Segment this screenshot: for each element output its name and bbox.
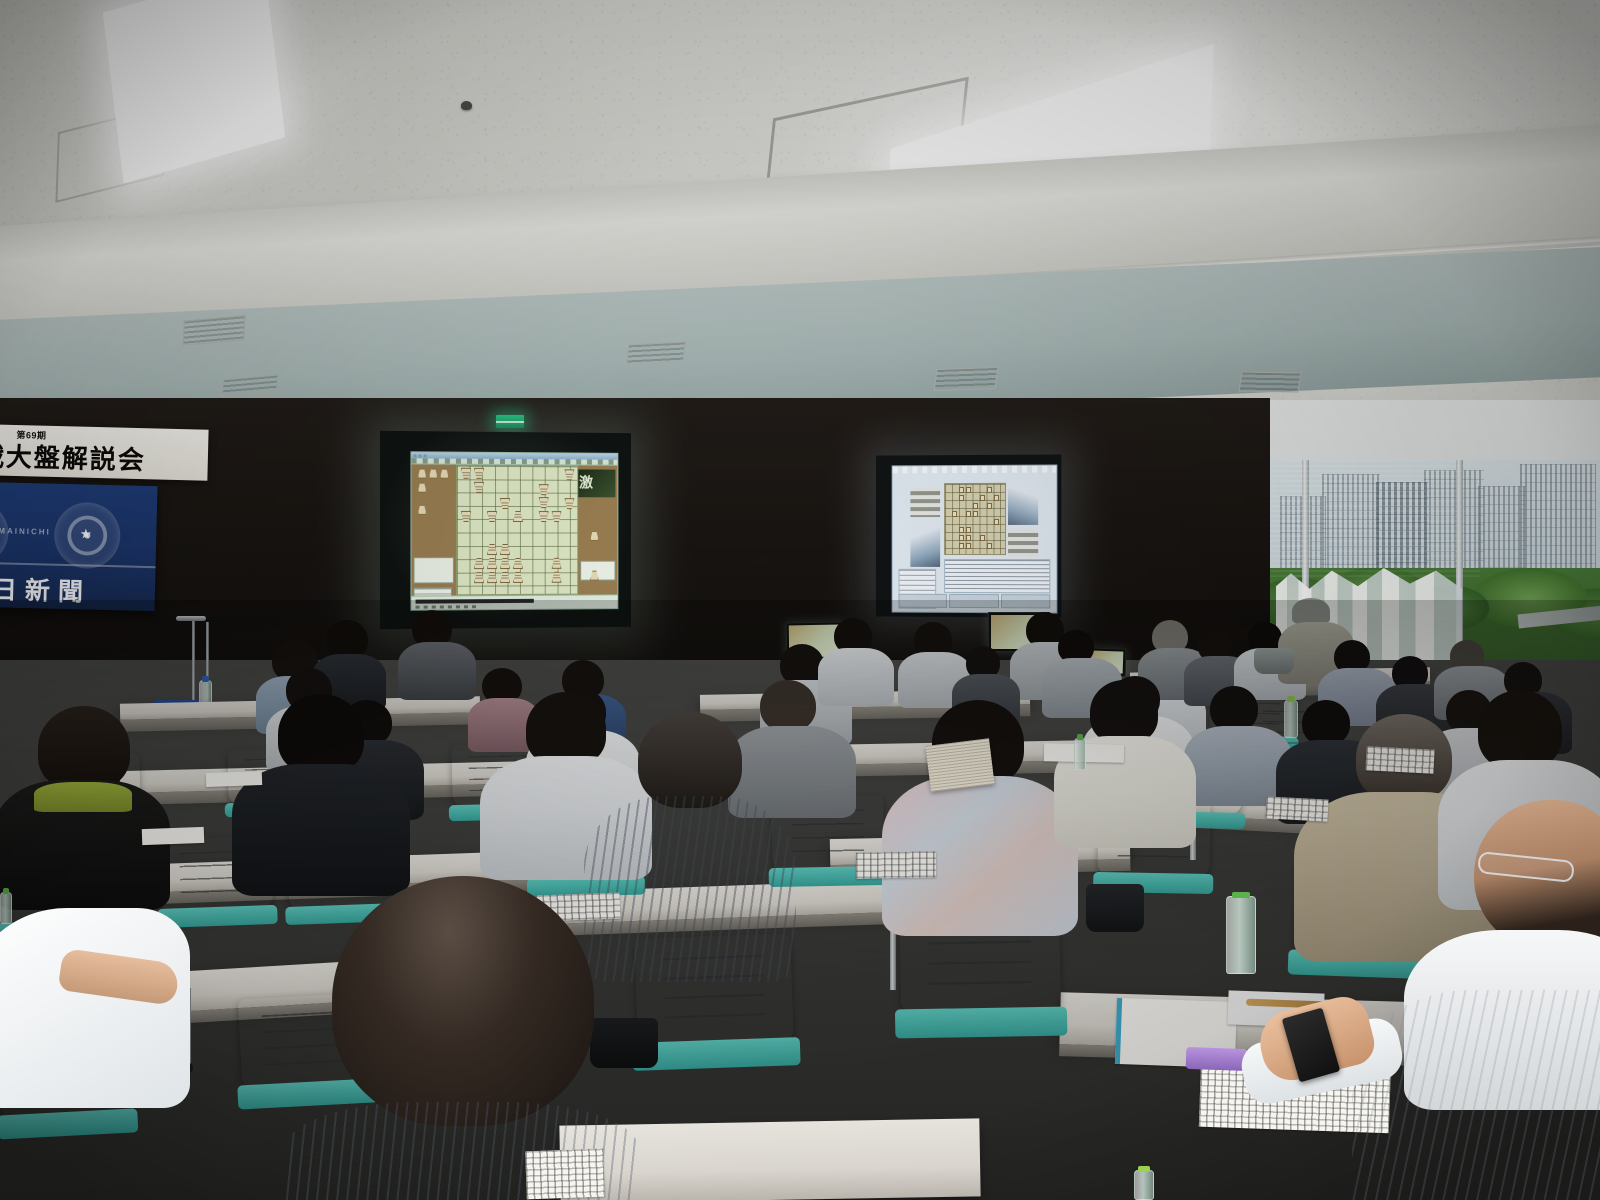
- sente-hand-area: 激: [578, 465, 617, 594]
- relay-button[interactable]: [899, 594, 948, 608]
- live-relay-body: [893, 473, 1057, 613]
- kifu-record-sheet[interactable]: [525, 1149, 605, 1200]
- kifu-record-sheet[interactable]: [856, 851, 936, 878]
- status-text: [416, 605, 476, 608]
- window-blind[interactable]: [1290, 460, 1480, 578]
- player-nameplate: [1008, 529, 1038, 557]
- office-tower: [1520, 464, 1596, 584]
- water-bottle: [1284, 700, 1298, 738]
- water-bottle: [0, 892, 12, 924]
- gote-hand-area: [411, 464, 455, 595]
- bag: [1086, 884, 1144, 932]
- bag: [1254, 648, 1294, 674]
- air-vent: [1238, 372, 1301, 393]
- relay-button[interactable]: [949, 594, 998, 608]
- air-vent: [933, 367, 998, 391]
- sponsor-name-jp: 毎日新聞: [0, 569, 91, 608]
- water-bottle: [1226, 896, 1256, 974]
- player-nameplate: [910, 487, 940, 517]
- right-projection-screen: [876, 454, 1062, 617]
- left-projection-screen: 激: [380, 431, 631, 629]
- software-logo: 激: [578, 469, 615, 497]
- live-relay-window[interactable]: [892, 465, 1058, 614]
- shogi-window-body: 激: [411, 464, 617, 595]
- sponsor-name-en: MAINICHI: [0, 526, 51, 536]
- water-bottle: [1074, 738, 1086, 770]
- relay-button[interactable]: [1001, 594, 1051, 608]
- handout-paper[interactable]: [206, 771, 262, 787]
- shogi-software-window[interactable]: 激: [410, 451, 618, 610]
- microphone-icon: [176, 616, 206, 621]
- status-bar: [411, 594, 617, 609]
- shogi-board[interactable]: [456, 465, 578, 596]
- air-vent: [626, 341, 686, 364]
- player-photo: [910, 521, 940, 567]
- relay-toolbar[interactable]: [899, 594, 1051, 609]
- event-title-label: 戦大盤解説会: [0, 436, 146, 477]
- info-panel: [414, 557, 454, 583]
- sprinkler-head-icon: [461, 101, 472, 110]
- scarf: [34, 782, 132, 812]
- handout-paper[interactable]: [142, 827, 205, 845]
- event-title-banner: 第69期 戦大盤解説会: [0, 424, 209, 480]
- sponsor-banner: MAINICHI 毎日新聞: [0, 482, 158, 611]
- open-book: [925, 738, 994, 791]
- player-photo: [1008, 481, 1038, 525]
- commentary-panel: [944, 559, 1050, 593]
- flip-phone[interactable]: [1186, 1047, 1249, 1071]
- kifu-record-sheet[interactable]: [1265, 796, 1328, 821]
- software-logo-label: 激: [579, 472, 592, 492]
- water-bottle: [1134, 1170, 1154, 1200]
- progress-bar[interactable]: [416, 599, 534, 604]
- shogi-board: [944, 483, 1006, 555]
- conference-room-scene: 第69期 戦大盤解説会 MAINICHI 毎日新聞: [0, 0, 1600, 1200]
- bag: [590, 1018, 658, 1068]
- exit-sign: [496, 415, 524, 428]
- kifu-record-sheet[interactable]: [1365, 746, 1434, 774]
